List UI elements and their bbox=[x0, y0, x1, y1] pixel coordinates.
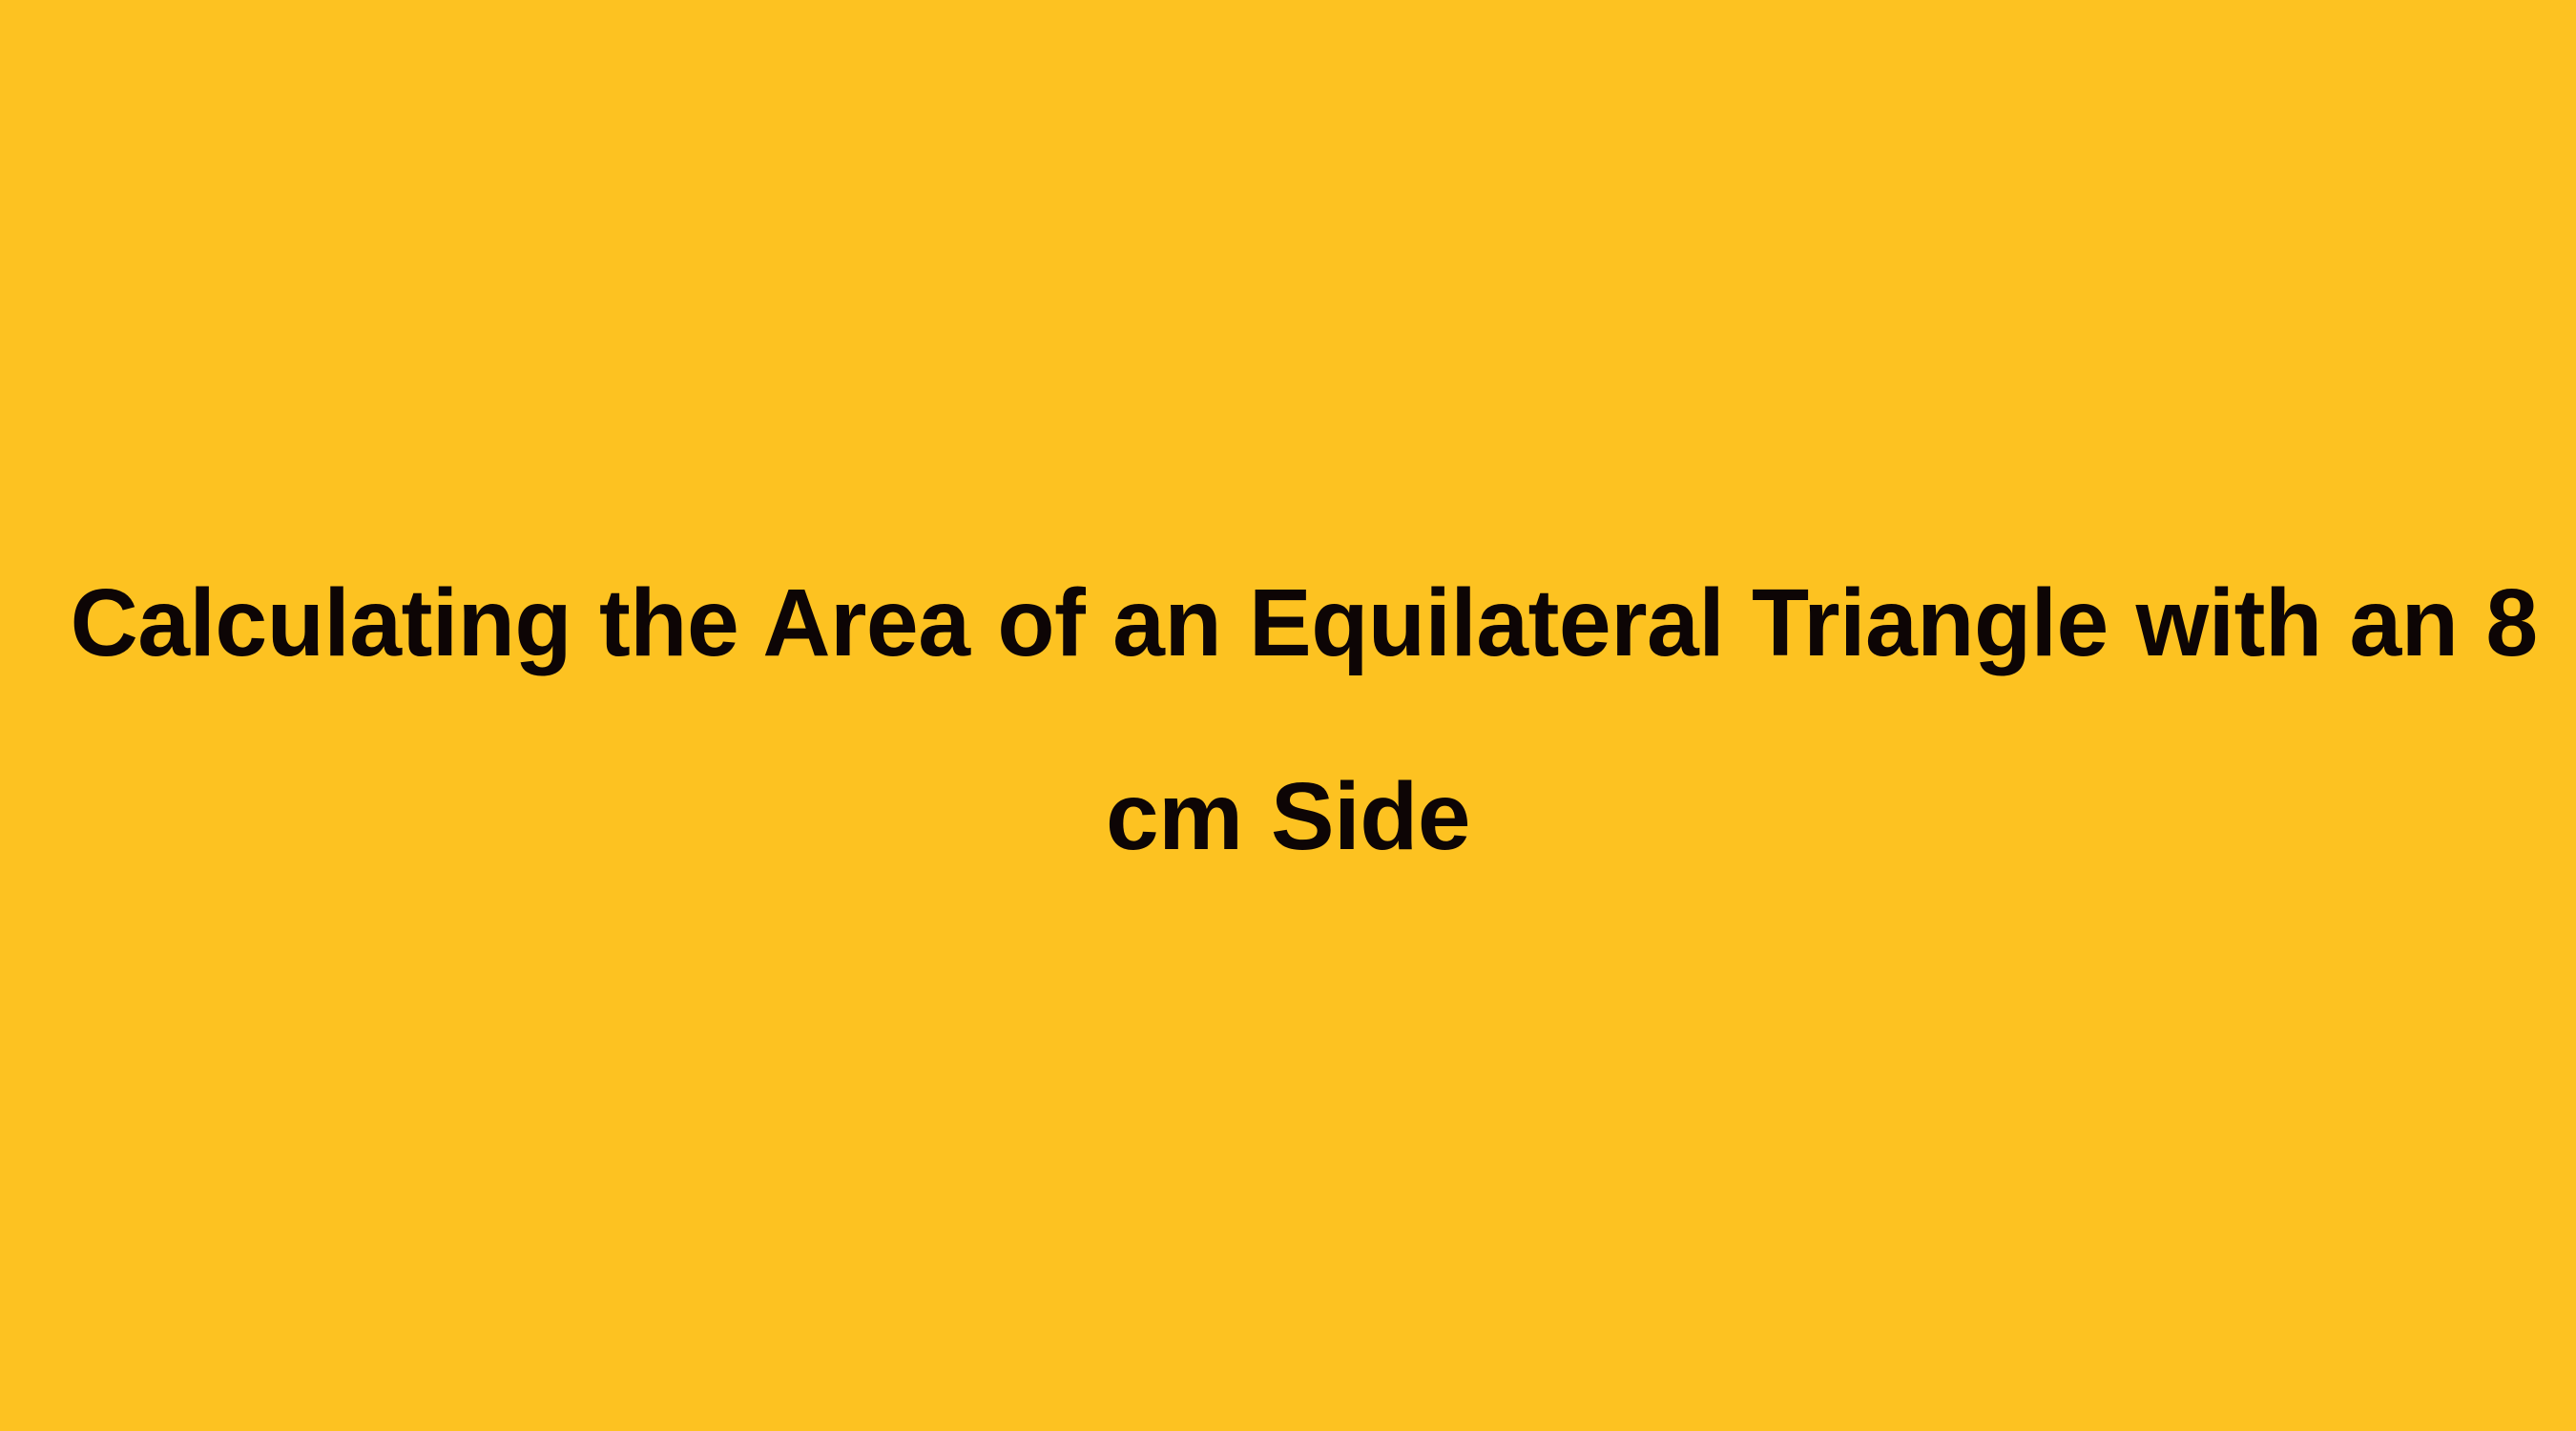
title-card: Calculating the Area of an Equilateral T… bbox=[0, 0, 2576, 1431]
page-title-line-1: Calculating the Area of an Equilateral T… bbox=[71, 527, 2538, 720]
page-title-line-2: cm Side bbox=[52, 720, 2524, 914]
page-title: Calculating the Area of an Equilateral T… bbox=[0, 527, 2576, 914]
